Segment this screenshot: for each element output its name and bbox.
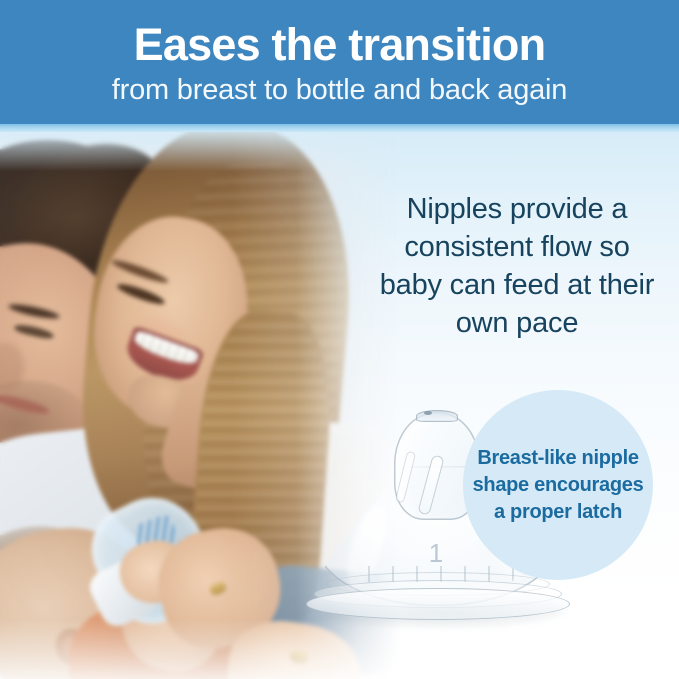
headline-title: Eases the transition bbox=[0, 22, 679, 67]
headline-subtitle: from breast to bottle and back again bbox=[0, 76, 679, 105]
nipple-base-ring-outer bbox=[306, 588, 570, 620]
photo-top-fade bbox=[0, 131, 400, 171]
feature-description-text: Nipples provide a consistent flow so bab… bbox=[372, 190, 662, 342]
banner-underline bbox=[0, 124, 679, 132]
nipple-hole bbox=[424, 411, 432, 415]
feature-callout-text: Breast-like nipple shape encourages a pr… bbox=[472, 445, 644, 526]
product-feature-infographic: Nipples provide a consistent flow so bab… bbox=[0, 0, 679, 679]
nipple-tip bbox=[416, 410, 458, 422]
headline-banner: Eases the transition from breast to bott… bbox=[0, 0, 679, 124]
feature-callout-circle: Breast-like nipple shape encourages a pr… bbox=[463, 390, 653, 580]
